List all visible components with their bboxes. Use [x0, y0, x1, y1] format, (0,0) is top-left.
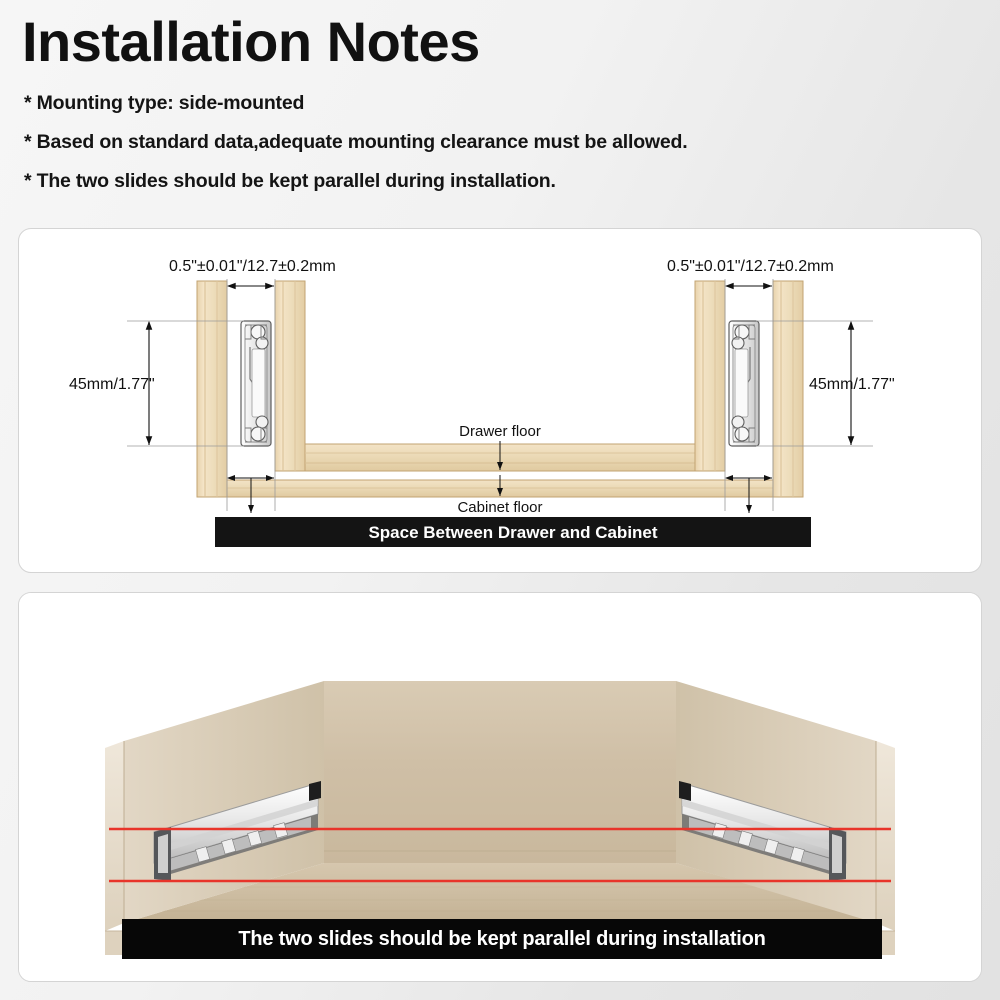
photo-banner-text: The two slides should be kept parallel d… [238, 928, 765, 951]
slide-rail-cross-section-left [241, 321, 271, 446]
slide-rail-cross-section-right [729, 321, 759, 446]
dimension-label-height-right: 45mm/1.77" [809, 376, 895, 393]
drawer-side-left [275, 281, 305, 471]
label-drawer-floor: Drawer floor [459, 423, 541, 440]
photo-panel: The two slides should be kept parallel d… [18, 592, 982, 982]
diagram-banner-text: Space Between Drawer and Cabinet [368, 523, 657, 542]
dimension-label-gap-left: 0.5"±0.01"/12.7±0.2mm [169, 258, 336, 275]
cross-section-drawing: 0.5"±0.01"/12.7±0.2mm 45mm/1.77" [19, 229, 981, 572]
page-title: Installation Notes [22, 14, 480, 70]
cabinet-side-right [773, 281, 803, 497]
cabinet-back-panel [324, 681, 676, 863]
cabinet-side-edge-left [105, 741, 124, 931]
dimension-label-height-left: 45mm/1.77" [69, 376, 155, 393]
photo-banner-bar: The two slides should be kept parallel d… [122, 919, 882, 959]
diagram-banner: Space Between Drawer and Cabinet [215, 517, 811, 547]
installation-notes-page: Installation Notes * Mounting type: side… [0, 0, 1000, 1000]
label-cabinet-floor: Cabinet floor [457, 499, 542, 516]
drawer-side-right [695, 281, 725, 471]
dimension-label-gap-right: 0.5"±0.01"/12.7±0.2mm [667, 258, 834, 275]
technical-diagram-panel: 0.5"±0.01"/12.7±0.2mm 45mm/1.77" [18, 228, 982, 573]
cabinet-side-left [197, 281, 227, 497]
note-item-1: * Mounting type: side-mounted [24, 92, 924, 115]
cabinet-side-edge-right [876, 741, 895, 931]
note-item-2: * Based on standard data,adequate mounti… [24, 131, 924, 154]
notes-list: * Mounting type: side-mounted * Based on… [24, 92, 924, 209]
note-item-3: * The two slides should be kept parallel… [24, 170, 924, 193]
